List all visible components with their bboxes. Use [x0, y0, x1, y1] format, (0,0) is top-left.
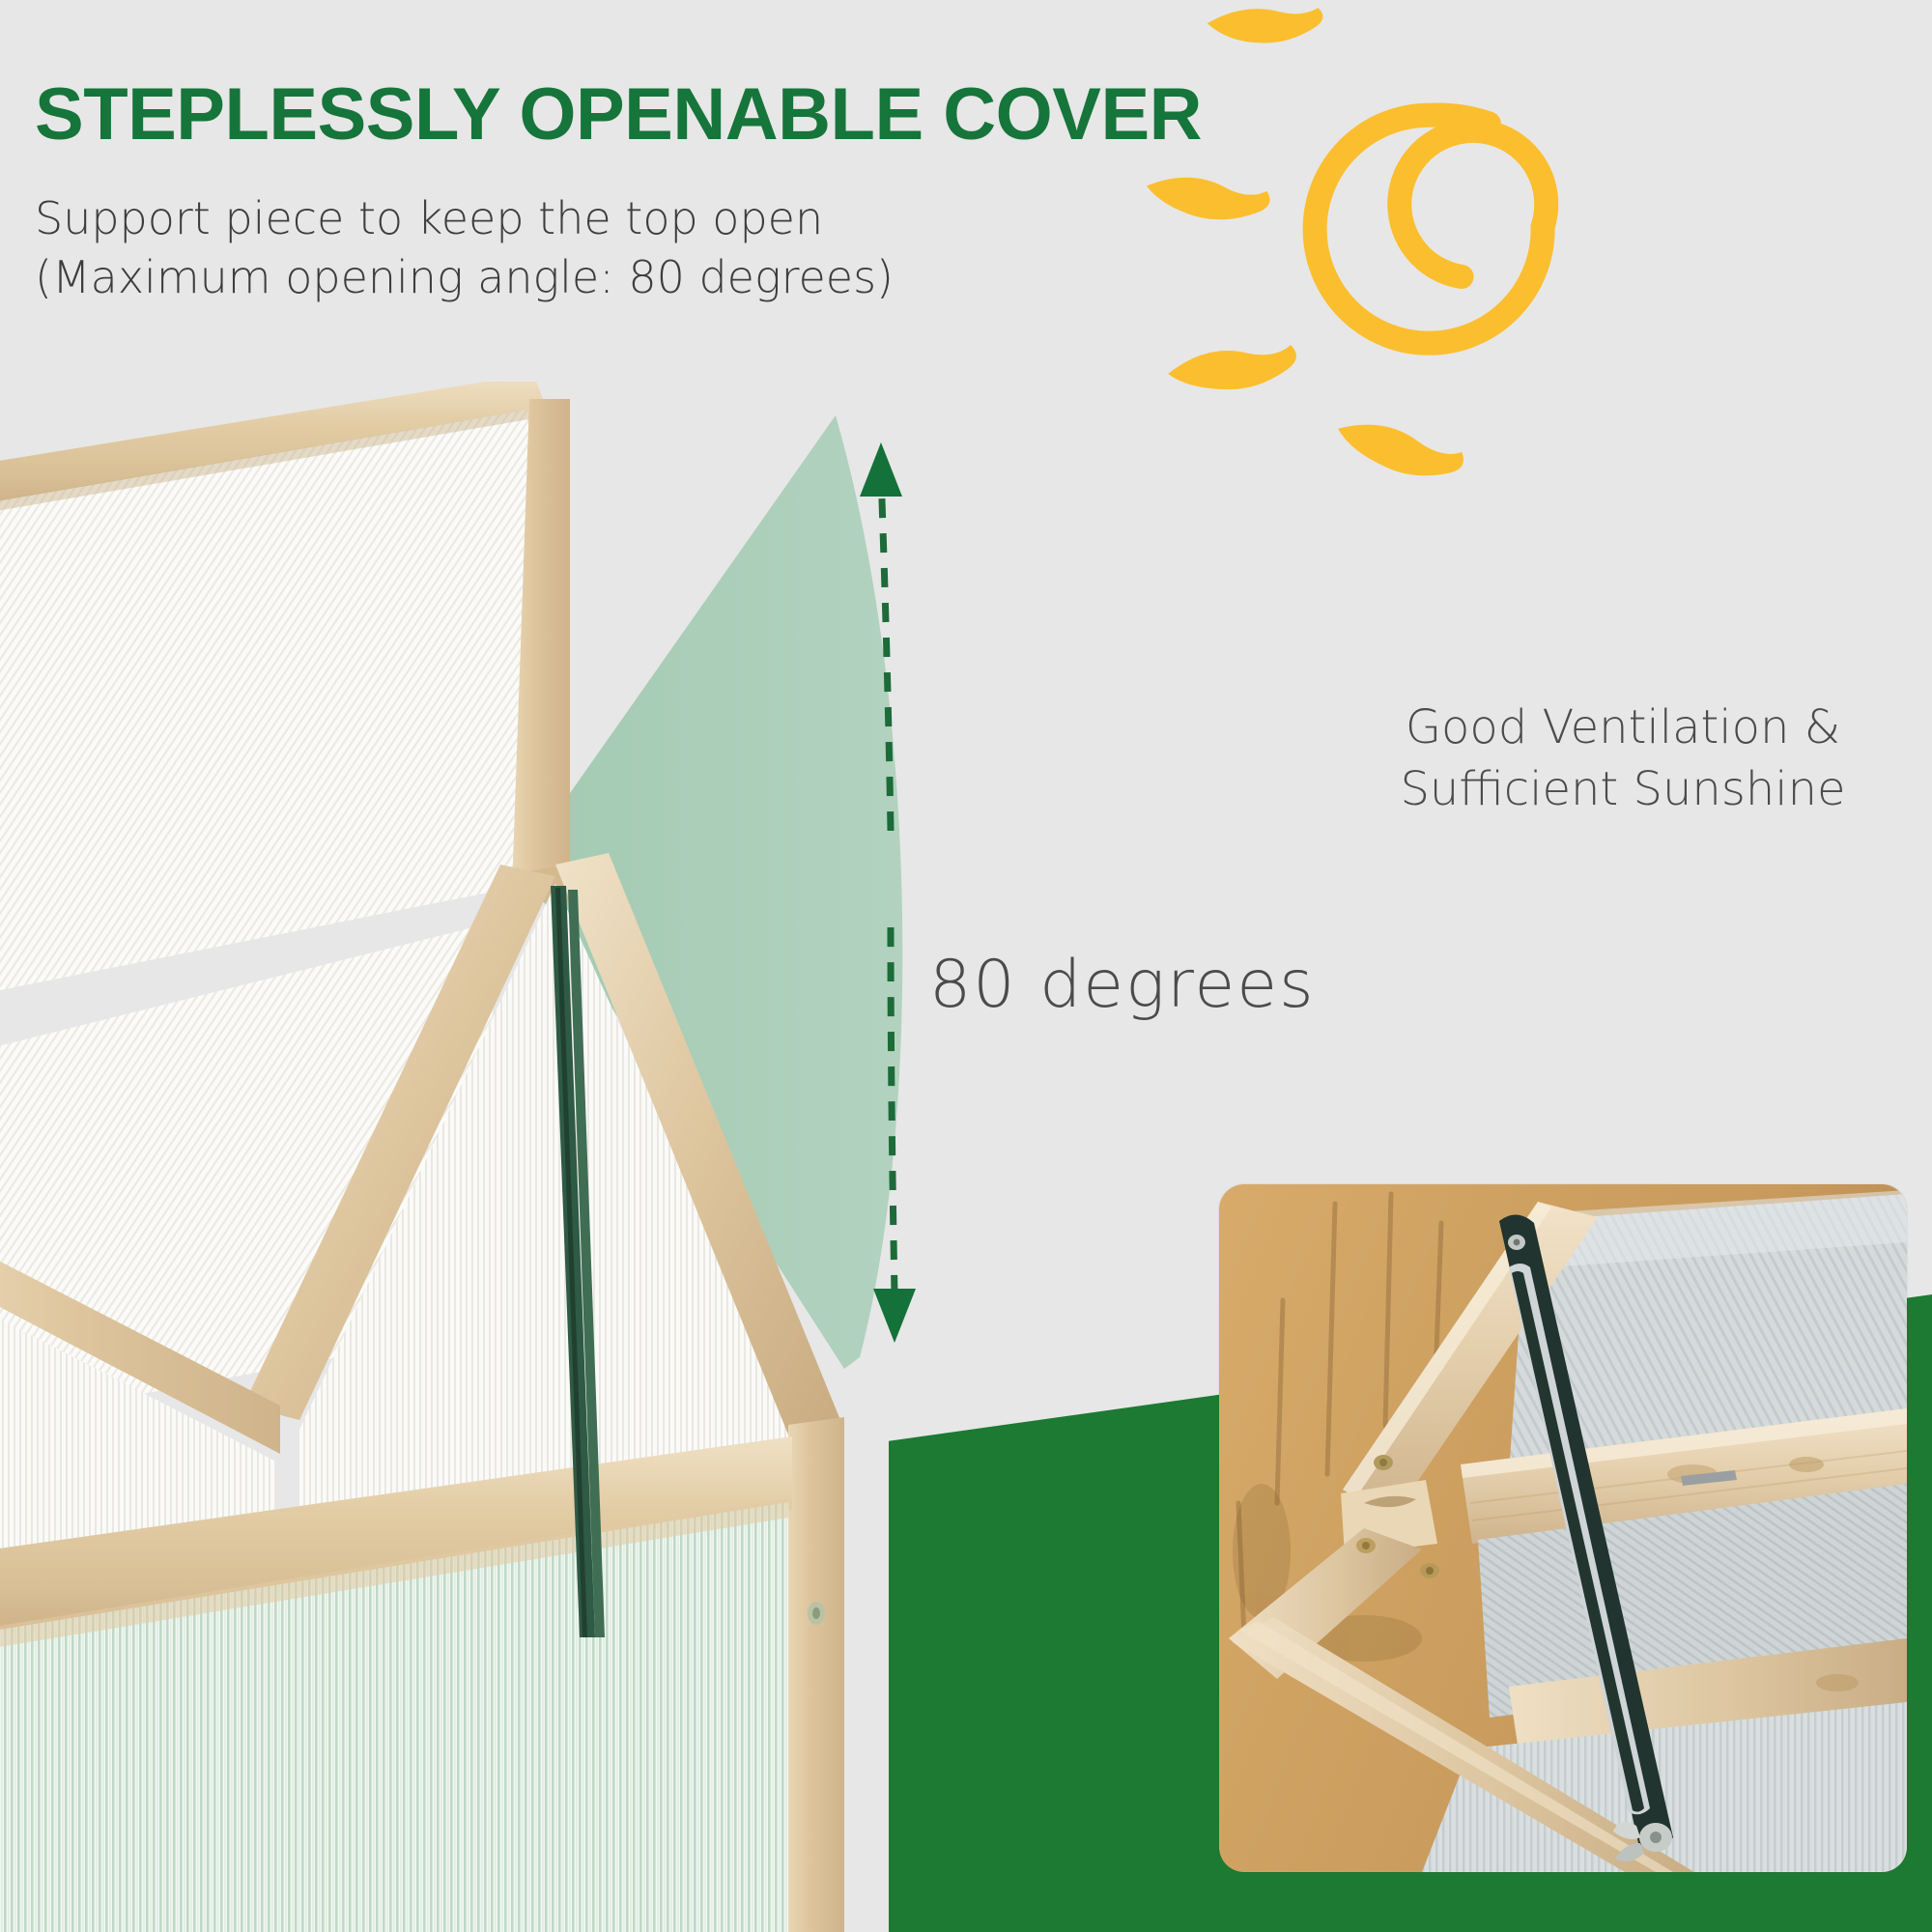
subtitle-line-1: Support piece to keep the top open [35, 189, 894, 248]
frame-post-right [788, 1417, 844, 1932]
subtitle-line-2: (Maximum opening angle: 80 degrees) [35, 248, 894, 307]
benefit-copy: Good Ventilation & Sufficient Sunshine [1333, 697, 1913, 821]
marketing-banner: STEPLESSLY OPENABLE COVER Support piece … [0, 0, 1932, 1932]
page-subtitle: Support piece to keep the top open (Maxi… [35, 189, 894, 306]
benefit-line-1: Good Ventilation & [1333, 697, 1913, 759]
angle-label: 80 degrees [929, 947, 1316, 1023]
page-title: STEPLESSLY OPENABLE COVER [35, 72, 1202, 156]
inset-photo [1219, 1184, 1907, 1872]
inset-photo-canvas [1219, 1184, 1907, 1872]
benefit-line-2: Sufficient Sunshine [1333, 759, 1913, 821]
